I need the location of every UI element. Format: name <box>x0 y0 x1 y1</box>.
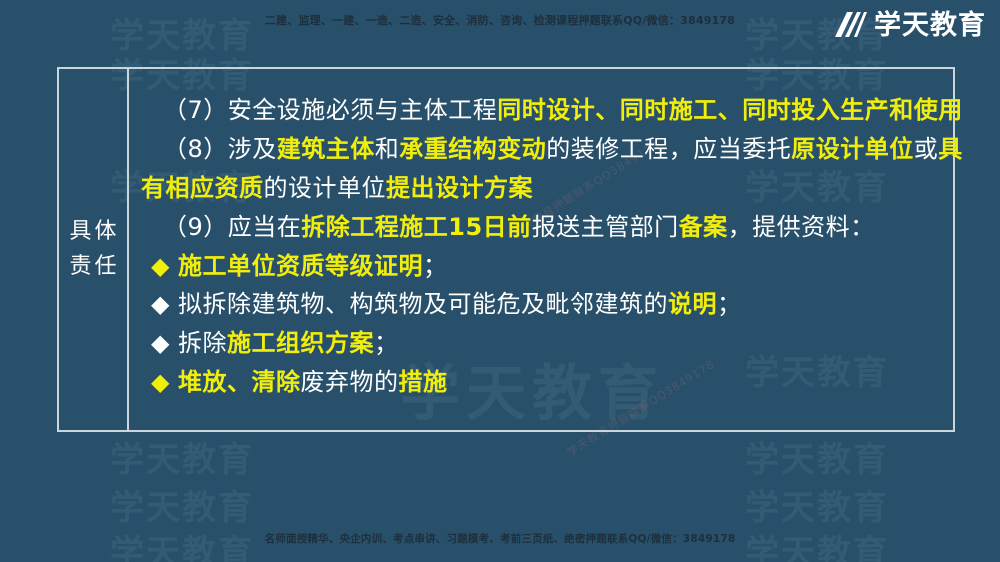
text-segment: 报送主管部门 <box>532 213 679 241</box>
text-segment-highlight: 施工组织方案 <box>227 329 374 357</box>
diamond-bullet-icon: ◆ <box>151 290 170 318</box>
text-segment-highlight: 说明 <box>668 290 717 318</box>
list-item: ◆拆除施工组织方案； <box>141 324 963 363</box>
logo-text: 学天教育 <box>874 12 986 39</box>
slide-header: 二建、监理、一建、一造、二造、安全、消防、咨询、检测课程押题联系QQ/微信：38… <box>0 0 1000 56</box>
text-segment: 的设计单位 <box>264 174 387 202</box>
brand-logo: 学天教育 <box>833 10 986 40</box>
diamond-bullet-icon: ◆ <box>151 329 170 357</box>
text-segment-highlight: 施工单位资质等级证明 <box>178 252 423 280</box>
content-row: 有相应资质的设计单位提出设计方案 <box>141 169 963 208</box>
text-segment-highlight: 有相应资质 <box>141 174 264 202</box>
text-segment-highlight: 承重结构变动 <box>399 135 546 163</box>
diamond-bullet-icon: ◆ <box>151 252 170 280</box>
text-segment-highlight: 具 <box>938 135 963 163</box>
text-segment-highlight: 提出设计方案 <box>386 174 533 202</box>
text-segment-highlight: 建筑主体 <box>277 135 375 163</box>
text-segment: ； <box>423 252 448 280</box>
text-segment: 废弃物的 <box>300 368 398 396</box>
table-label-cell: 具体 责任 <box>59 69 129 430</box>
list-item: ◆拟拆除建筑物、构筑物及可能危及毗邻建筑的说明； <box>141 285 963 324</box>
content-table: 具体 责任 （7）安全设施必须与主体工程同时设计、同时施工、同时投入生产和使用 … <box>57 67 955 432</box>
list-item: ◆堆放、清除废弃物的措施 <box>141 363 963 402</box>
text-segment: 或 <box>914 135 939 163</box>
text-segment: ； <box>374 329 399 357</box>
slide-root: 学天教育 学天教育 学天教育 学天教育 学天教育 学天教育 学天教育 学天教育 … <box>0 0 1000 562</box>
content-row: （7）安全设施必须与主体工程同时设计、同时施工、同时投入生产和使用 <box>141 91 963 130</box>
content-row: （9）应当在拆除工程施工15日前报送主管部门备案，提供资料： <box>141 208 963 247</box>
text-segment-highlight: 拆除工程施工15日前 <box>301 213 531 241</box>
text-segment: 拆除 <box>178 329 227 357</box>
text-segment: ，提供资料： <box>728 213 875 241</box>
text-segment-highlight: 原设计单位 <box>791 135 914 163</box>
text-segment-highlight: 备案 <box>679 213 728 241</box>
watermark-text: 学天教育 <box>110 480 254 529</box>
text-segment-highlight: 同时设计、同时施工、同时投入生产和使用 <box>497 96 963 124</box>
footer-promo-text: 名师面授精华、央企内训、考点串讲、习题模考、考前三页纸、绝密押题联系QQ/微信：… <box>0 531 1000 546</box>
watermark-text: 学天教育 <box>110 432 254 481</box>
table-body-cell: （7）安全设施必须与主体工程同时设计、同时施工、同时投入生产和使用 （8）涉及建… <box>129 69 973 430</box>
text-segment: （9）应当在 <box>163 213 301 241</box>
text-segment: 的装修工程，应当委托 <box>546 135 791 163</box>
text-segment-highlight: 措施 <box>398 368 447 396</box>
slanted-stripes-icon <box>833 10 867 40</box>
text-segment: ； <box>717 290 742 318</box>
table-label-line1: 具体 <box>66 220 119 244</box>
text-segment: 拟拆除建筑物、构筑物及可能危及毗邻建筑的 <box>178 290 668 318</box>
diamond-bullet-icon: ◆ <box>151 368 170 396</box>
text-segment: （8）涉及 <box>163 135 277 163</box>
watermark-text: 学天教育 <box>745 432 889 481</box>
watermark-text: 学天教育 <box>745 480 889 529</box>
text-segment-highlight: 堆放、清除 <box>178 368 301 396</box>
list-item: ◆施工单位资质等级证明； <box>141 247 963 286</box>
content-row: （8）涉及建筑主体和承重结构变动的装修工程，应当委托原设计单位或具 <box>141 130 963 169</box>
table-label-line2: 责任 <box>66 255 119 279</box>
text-segment: 和 <box>375 135 400 163</box>
text-segment: （7）安全设施必须与主体工程 <box>163 96 497 124</box>
